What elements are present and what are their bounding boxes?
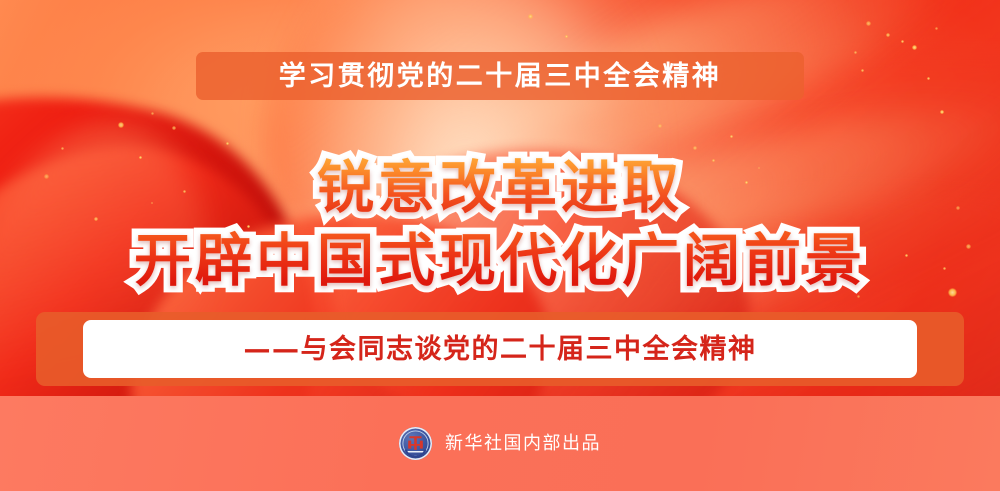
xinhua-agency-emblem-icon	[399, 427, 432, 460]
subtitle-text: ——与会同志谈党的二十届三中全会精神	[244, 336, 757, 363]
main-title-line-2: 开辟中国式现代化广阔前景 开辟中国式现代化广阔前景	[0, 225, 1000, 298]
subtitle-panel: ——与会同志谈党的二十届三中全会精神	[83, 320, 917, 378]
footer-bar: 新华社国内部出品	[0, 396, 1000, 491]
footer-text: 新华社国内部出品	[445, 435, 601, 453]
footer-content: 新华社国内部出品	[399, 427, 601, 460]
headline-banner: 学习贯彻党的二十届三中全会精神	[196, 52, 804, 100]
poster-root: 学习贯彻党的二十届三中全会精神 锐意改革进取 锐意改革进取 开辟中国式现代化广阔…	[0, 0, 1000, 491]
main-title-line-1-fill: 锐意改革进取	[0, 152, 1000, 225]
subtitle-bar: ——与会同志谈党的二十届三中全会精神	[36, 312, 964, 386]
main-title-line-2-fill: 开辟中国式现代化广阔前景	[0, 225, 1000, 298]
headline-banner-text: 学习贯彻党的二十届三中全会精神	[279, 63, 722, 90]
main-title-line-1: 锐意改革进取 锐意改革进取	[0, 152, 1000, 225]
main-title: 锐意改革进取 锐意改革进取 开辟中国式现代化广阔前景 开辟中国式现代化广阔前景	[0, 152, 1000, 298]
